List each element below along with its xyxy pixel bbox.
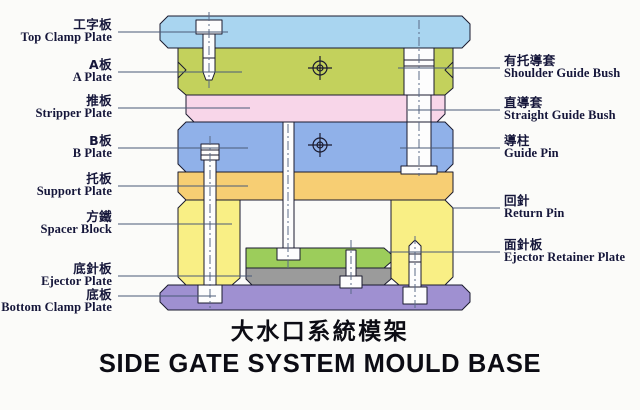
label-a-plate-en: A Plate: [0, 71, 112, 84]
label-a-plate: A板 A Plate: [0, 58, 112, 84]
label-guide-pin-en: Guide Pin: [504, 147, 640, 160]
label-spacer-block: 方鐵 Spacer Block: [0, 210, 112, 236]
label-b-plate: B板 B Plate: [0, 134, 112, 160]
label-shoulder-guide-bush: 有托導套 Shoulder Guide Bush: [504, 54, 640, 80]
label-ejector-retainer-plate: 面針板 Ejector Retainer Plate: [504, 238, 640, 264]
label-support-plate: 托板 Support Plate: [0, 172, 112, 198]
label-spacer-block-en: Spacer Block: [0, 223, 112, 236]
label-stripper-plate: 推板 Stripper Plate: [0, 94, 112, 120]
label-ejector-retainer-plate-en: Ejector Retainer Plate: [504, 251, 640, 264]
label-shoulder-guide-bush-en: Shoulder Guide Bush: [504, 67, 640, 80]
label-straight-guide-bush-en: Straight Guide Bush: [504, 109, 640, 122]
label-stripper-plate-en: Stripper Plate: [0, 107, 112, 120]
label-guide-pin: 導柱 Guide Pin: [504, 134, 640, 160]
label-return-pin: 回針 Return Pin: [504, 194, 640, 220]
label-top-clamp-plate-en: Top Clamp Plate: [0, 31, 112, 44]
diagram-title-chinese: 大水口系統模架: [0, 312, 640, 346]
label-ejector-plate: 底針板 Ejector Plate: [0, 262, 112, 288]
diagram-title-english: SIDE GATE SYSTEM MOULD BASE: [0, 350, 640, 379]
label-straight-guide-bush: 直導套 Straight Guide Bush: [504, 96, 640, 122]
ejector-retainer-plate: [246, 248, 391, 268]
label-bottom-clamp-plate: 底板 Bottom Clamp Plate: [0, 288, 112, 314]
ejector-plate: [246, 268, 391, 285]
mould-base-diagram: 工字板 Top Clamp Plate A板 A Plate 推板 Stripp…: [0, 0, 640, 410]
diagram-title: 大水口系統模架 SIDE GATE SYSTEM MOULD BASE: [0, 312, 640, 379]
label-return-pin-en: Return Pin: [504, 207, 640, 220]
label-support-plate-en: Support Plate: [0, 185, 112, 198]
label-top-clamp-plate: 工字板 Top Clamp Plate: [0, 18, 112, 44]
label-b-plate-en: B Plate: [0, 147, 112, 160]
spacer-block-right: [391, 200, 453, 285]
